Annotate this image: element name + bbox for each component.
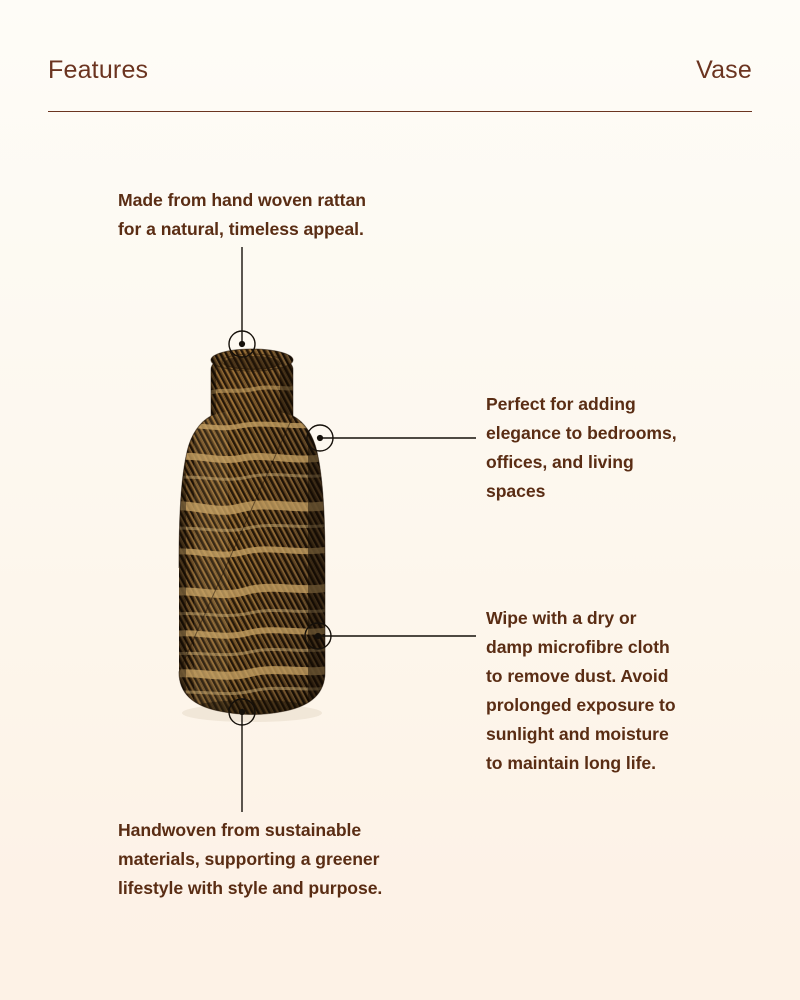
callout-text-placement: Perfect for adding elegance to bedrooms,… (486, 390, 762, 506)
product-name-title: Vase (696, 58, 752, 83)
page-title: Features (48, 58, 148, 83)
vase-product-image (168, 332, 336, 724)
page-header: Features Vase (48, 58, 752, 112)
callout-text-material: Made from hand woven rattan for a natura… (118, 186, 448, 244)
callout-text-care: Wipe with a dry or damp microfibre cloth… (486, 604, 756, 778)
vase-illustration (168, 332, 336, 724)
feature-callout-page: Features Vase (0, 0, 800, 1000)
callout-text-sustainability: Handwoven from sustainable materials, su… (118, 816, 470, 903)
